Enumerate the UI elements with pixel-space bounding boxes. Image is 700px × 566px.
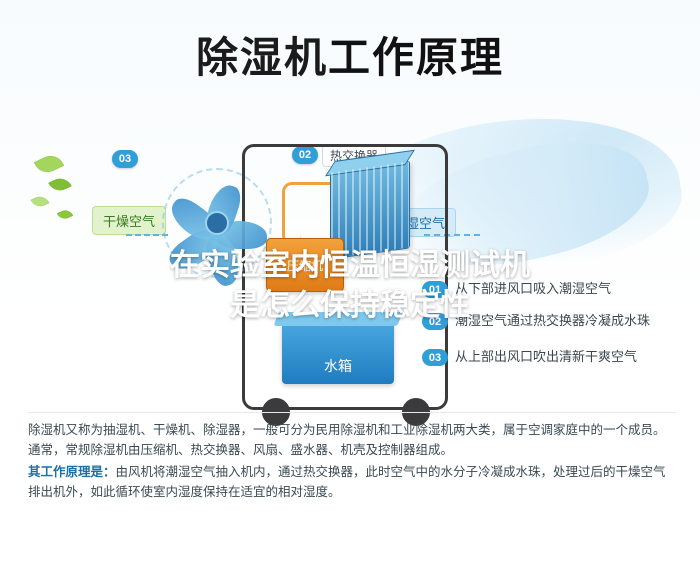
label-dry-air: 干燥空气 bbox=[92, 206, 166, 235]
bottom-paragraph-2-label: 其工作原理是： bbox=[28, 465, 116, 479]
bottom-paragraph-2: 其工作原理是：由风机将潮湿空气抽入机内，通过热交换器，此时空气中的水分子冷凝成水… bbox=[28, 462, 676, 502]
water-tank-label: 水箱 bbox=[324, 356, 352, 376]
title-part-2: 工作原理 bbox=[328, 34, 504, 81]
step-text-01: 从下部进风口吸入潮湿空气 bbox=[455, 281, 611, 296]
step-badge-01: 01 bbox=[422, 281, 448, 298]
step-line-2: 02潮湿空气通过热交换器冷凝成水珠 bbox=[422, 310, 650, 330]
bottom-paragraph-2-text: 由风机将潮湿空气抽入机内，通过热交换器，此时空气中的水分子冷凝成水珠，处理过后的… bbox=[28, 465, 666, 499]
page-title: 除湿机工作原理 bbox=[0, 24, 700, 85]
fan-hub bbox=[205, 211, 229, 235]
bottom-divider bbox=[28, 412, 676, 413]
step-text-03: 从上部出风口吹出清新干爽空气 bbox=[455, 349, 637, 364]
step-line-1: 01从下部进风口吸入潮湿空气 bbox=[422, 278, 611, 298]
water-tank-lid bbox=[273, 312, 402, 326]
step-badge-02: 02 bbox=[422, 313, 448, 330]
step-badge-03: 03 bbox=[422, 349, 448, 366]
fan-icon bbox=[160, 166, 270, 276]
title-part-1: 除湿机 bbox=[196, 34, 328, 81]
leaf-icon bbox=[30, 193, 49, 210]
leaf-icon bbox=[57, 207, 73, 221]
step-line-3: 03从上部出风口吹出清新干爽空气 bbox=[422, 346, 637, 366]
leaf-icon bbox=[48, 174, 72, 194]
badge-03-left: 03 bbox=[112, 150, 138, 168]
step-text-02: 潮湿空气通过热交换器冷凝成水珠 bbox=[455, 313, 650, 328]
poster-root: 除湿机工作原理 03 干燥空气 02 热交换器 01 潮湿空气 bbox=[0, 0, 700, 566]
bottom-paragraph-1: 除湿机又称为抽湿机、干燥机、除湿器，一般可分为民用除湿机和工业除湿机两大类，属于… bbox=[28, 420, 676, 460]
compressor-block: 压缩机 bbox=[266, 238, 344, 292]
water-tank: 水箱 bbox=[282, 322, 394, 384]
diagram-illustration: 03 干燥空气 02 热交换器 01 潮湿空气 压缩机 水箱 bbox=[30, 110, 670, 400]
leaf-icon bbox=[34, 151, 64, 176]
